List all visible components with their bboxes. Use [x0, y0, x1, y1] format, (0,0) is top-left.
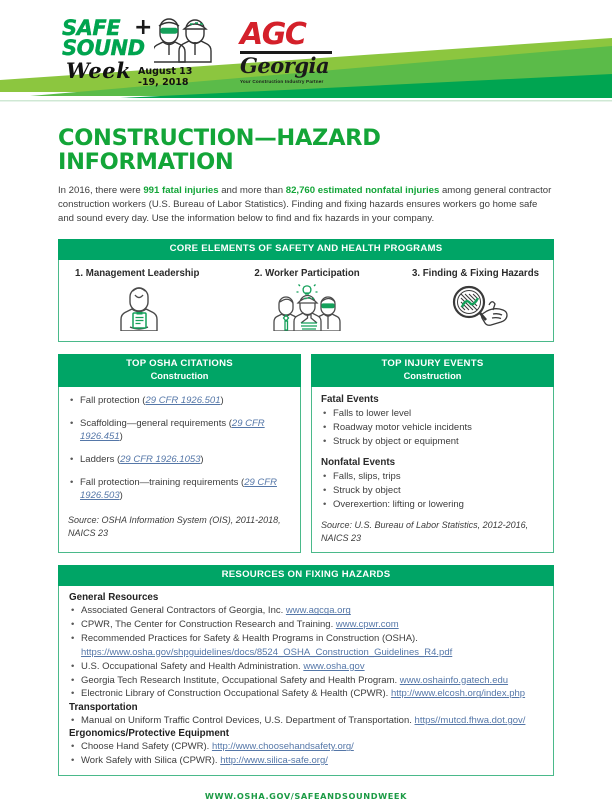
nonfatal-events-heading: Nonfatal Events — [321, 457, 544, 468]
citation-text: Ladders ( — [80, 454, 120, 465]
core-elements-section: CORE ELEMENTS OF SAFETY AND HEALTH PROGR… — [58, 239, 554, 342]
citations-panel: Fall protection (29 CFR 1926.501) Scaffo… — [58, 387, 301, 553]
header-logos: SAFE SOUND + Week August 13 -19, 2018 — [62, 16, 336, 90]
citation-text: Fall protection—training requirements ( — [80, 477, 244, 488]
footer-url[interactable]: WWW.OSHA.GOV/SAFEANDSOUNDWEEK — [58, 791, 554, 801]
manager-clipboard-icon — [75, 283, 230, 331]
magnifier-hand-icon — [384, 283, 539, 331]
fatal-events-list: Falls to lower level Roadway motor vehic… — [321, 407, 544, 448]
list-item: Georgia Tech Research Institute, Occupat… — [69, 674, 543, 687]
resource-text: Recommended Practices for Safety & Healt… — [81, 633, 418, 644]
core-element-3: 3. Finding & Fixing Hazards — [384, 268, 543, 331]
core-element-1-label: 1. Management Leadership — [75, 268, 230, 279]
injury-title-bar: TOP INJURY EVENTS Construction — [311, 354, 554, 387]
citation-tail: ) — [220, 395, 223, 406]
injury-title: TOP INJURY EVENTS — [311, 358, 554, 370]
list-item: Struck by object — [321, 484, 544, 497]
two-workers-icon — [154, 16, 212, 69]
two-column-section: TOP OSHA CITATIONS Construction Fall pro… — [58, 354, 554, 553]
resource-text: Georgia Tech Research Institute, Occupat… — [81, 675, 400, 686]
safe-sound-week-logo: SAFE SOUND + Week August 13 -19, 2018 — [62, 16, 214, 90]
top-osha-citations-section: TOP OSHA CITATIONS Construction Fall pro… — [58, 354, 301, 553]
general-resources-list: Associated General Contractors of Georgi… — [69, 604, 543, 700]
intro-part1: In 2016, there were — [58, 185, 143, 196]
resource-link[interactable]: http://www.choosehandsafety.org/ — [212, 741, 354, 752]
resource-text: Manual on Uniform Traffic Control Device… — [81, 715, 415, 726]
core-elements-title-bar: CORE ELEMENTS OF SAFETY AND HEALTH PROGR… — [58, 239, 554, 260]
logo-plus-sign: + — [134, 18, 152, 38]
resource-text: CPWR, The Center for Construction Resear… — [81, 619, 336, 630]
citation-text: Fall protection ( — [80, 395, 145, 406]
core-element-1: 1. Management Leadership — [69, 268, 230, 331]
resource-link[interactable]: www.agcga.org — [286, 605, 351, 616]
core-element-2: 2. Worker Participation — [230, 268, 385, 331]
three-workers-lightbulb-icon — [230, 283, 385, 331]
citation-link[interactable]: 29 CFR 1926.1053 — [120, 454, 200, 465]
resource-text: Associated General Contractors of Georgi… — [81, 605, 286, 616]
list-item: Roadway motor vehicle incidents — [321, 421, 544, 434]
citation-text: Scaffolding—general requirements ( — [80, 418, 232, 429]
core-element-3-label: 3. Finding & Fixing Hazards — [384, 268, 539, 279]
citation-link[interactable]: 29 CFR 1926.501 — [145, 395, 220, 406]
page-header: SAFE SOUND + Week August 13 -19, 2018 — [0, 0, 612, 112]
agc-state: Georgia — [240, 55, 336, 77]
page-title: CONSTRUCTION—HAZARD INFORMATION — [58, 126, 554, 174]
resources-section: RESOURCES ON FIXING HAZARDS General Reso… — [58, 565, 554, 776]
ergonomics-resources-list: Choose Hand Safety (CPWR). http://www.ch… — [69, 740, 543, 767]
list-item: CPWR, The Center for Construction Resear… — [69, 618, 543, 631]
list-item: Associated General Contractors of Georgi… — [69, 604, 543, 617]
citations-subtitle: Construction — [58, 370, 301, 382]
list-item: Work Safely with Silica (CPWR). http://w… — [69, 754, 543, 767]
top-injury-events-section: TOP INJURY EVENTS Construction Fatal Eve… — [311, 354, 554, 553]
resource-link[interactable]: https://www.osha.gov/shpguidelines/docs/… — [81, 647, 452, 658]
injury-panel: Fatal Events Falls to lower level Roadwa… — [311, 387, 554, 553]
resource-text: Choose Hand Safety (CPWR). — [81, 741, 212, 752]
injury-subtitle: Construction — [311, 370, 554, 382]
intro-bold-nonfatal: 82,760 estimated nonfatal injuries — [286, 185, 440, 196]
agc-acronym: AGC — [240, 20, 336, 50]
citations-source: Source: OSHA Information System (OIS), 2… — [68, 514, 291, 539]
page-body: CONSTRUCTION—HAZARD INFORMATION In 2016,… — [0, 126, 612, 801]
list-item: Choose Hand Safety (CPWR). http://www.ch… — [69, 740, 543, 753]
resource-link[interactable]: www.osha.gov — [303, 661, 364, 672]
agc-tagline: Your Construction Industry Partner — [240, 79, 336, 84]
intro-part2: and more than — [219, 185, 286, 196]
list-item: Falls to lower level — [321, 407, 544, 420]
transportation-resources-list: Manual on Uniform Traffic Control Device… — [69, 714, 543, 727]
resources-title-bar: RESOURCES ON FIXING HAZARDS — [58, 565, 554, 586]
citation-tail: ) — [200, 454, 203, 465]
core-elements-panel: 1. Management Leadership — [58, 260, 554, 342]
citation-item: Fall protection—training requirements (2… — [68, 476, 291, 502]
resources-group-heading: Ergonomics/Protective Equipment — [69, 728, 543, 739]
resource-text: U.S. Occupational Safety and Health Admi… — [81, 661, 303, 672]
fatal-events-heading: Fatal Events — [321, 394, 544, 405]
list-item: Struck by object or equipment — [321, 435, 544, 448]
resource-text: Work Safely with Silica (CPWR). — [81, 755, 220, 766]
citations-title: TOP OSHA CITATIONS — [58, 358, 301, 370]
nonfatal-events-list: Falls, slips, trips Struck by object Ove… — [321, 470, 544, 511]
intro-bold-fatal: 991 fatal injuries — [143, 185, 218, 196]
logo-word-week: Week — [66, 58, 131, 83]
citation-tail: ) — [120, 490, 123, 501]
resource-link[interactable]: https//mutcd.fhwa.dot.gov/ — [415, 715, 526, 726]
resource-link[interactable]: http://www.silica-safe.org/ — [220, 755, 328, 766]
resources-group-heading: Transportation — [69, 702, 543, 713]
list-item: Overexertion: lifting or lowering — [321, 498, 544, 511]
resource-link[interactable]: http://www.elcosh.org/index.php — [391, 688, 525, 699]
citation-item: Scaffolding—general requirements (29 CFR… — [68, 417, 291, 443]
citations-title-bar: TOP OSHA CITATIONS Construction — [58, 354, 301, 387]
intro-paragraph: In 2016, there were 991 fatal injuries a… — [58, 184, 554, 227]
injury-source: Source: U.S. Bureau of Labor Statistics,… — [321, 519, 544, 544]
logo-date: August 13 -19, 2018 — [138, 66, 214, 88]
resources-group-heading: General Resources — [69, 592, 543, 603]
citation-item: Ladders (29 CFR 1926.1053) — [68, 453, 291, 466]
list-item: Manual on Uniform Traffic Control Device… — [69, 714, 543, 727]
resource-link[interactable]: www.cpwr.com — [336, 619, 399, 630]
list-item: Falls, slips, trips — [321, 470, 544, 483]
list-item: Recommended Practices for Safety & Healt… — [69, 632, 543, 659]
citation-item: Fall protection (29 CFR 1926.501) — [68, 394, 291, 407]
resource-link[interactable]: www.oshainfo.gatech.edu — [400, 675, 508, 686]
list-item: U.S. Occupational Safety and Health Admi… — [69, 660, 543, 673]
citations-list: Fall protection (29 CFR 1926.501) Scaffo… — [68, 394, 291, 502]
resources-panel: General Resources Associated General Con… — [58, 586, 554, 776]
core-element-2-label: 2. Worker Participation — [230, 268, 385, 279]
logo-line-sound: SOUND — [62, 38, 154, 58]
agc-georgia-logo: AGC Georgia Your Construction Industry P… — [240, 16, 336, 88]
citation-tail: ) — [120, 431, 123, 442]
list-item: Electronic Library of Construction Occup… — [69, 687, 543, 700]
resource-text: Electronic Library of Construction Occup… — [81, 688, 391, 699]
